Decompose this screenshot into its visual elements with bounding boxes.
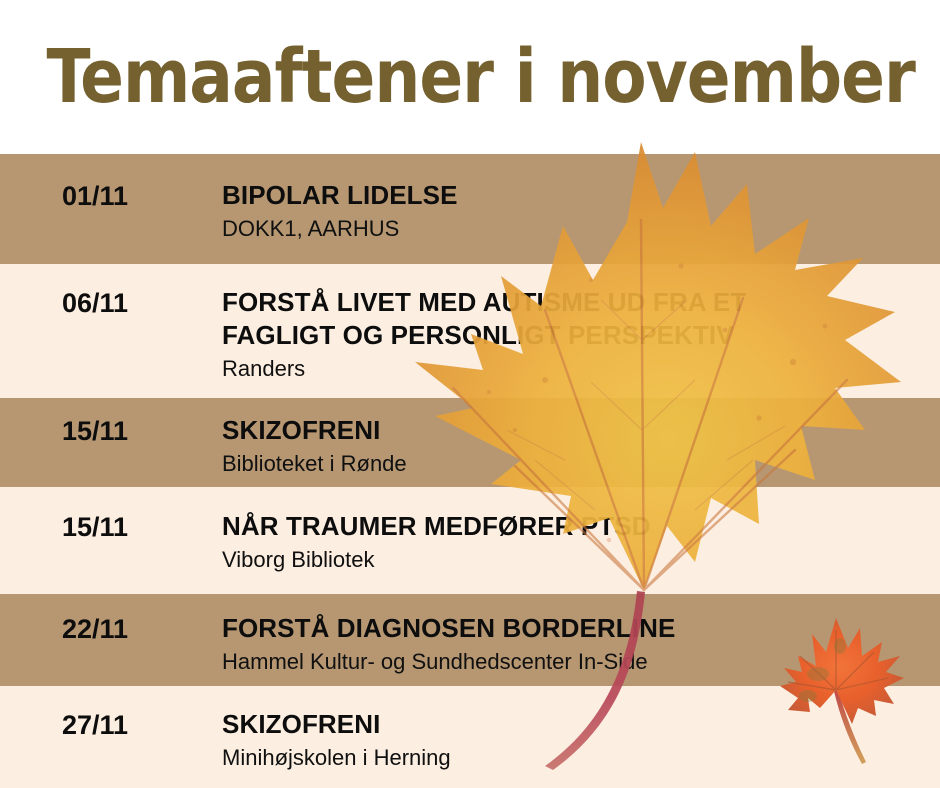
poster-canvas: Temaaftener i november 01/11 BIPOLAR LID… [0, 0, 940, 788]
event-schedule-list: 01/11 BIPOLAR LIDELSE DOKK1, AARHUS 06/1… [0, 154, 940, 788]
event-date: 27/11 [62, 708, 222, 742]
event-date: 15/11 [62, 414, 222, 448]
event-date: 15/11 [62, 510, 222, 544]
table-row: 22/11 FORSTÅ DIAGNOSEN BORDERLINE Hammel… [0, 594, 940, 686]
event-title: FORSTÅ LIVET MED AUTISME UD FRA ET FAGLI… [222, 286, 940, 352]
event-title-line1: FORSTÅ DIAGNOSEN BORDERLINE [222, 613, 675, 643]
table-row: 27/11 SKIZOFRENI Minihøjskolen i Herning [0, 686, 940, 788]
table-row: 15/11 NÅR TRAUMER MEDFØRER PTSD Viborg B… [0, 487, 940, 594]
event-title: NÅR TRAUMER MEDFØRER PTSD [222, 510, 940, 543]
table-row: 15/11 SKIZOFRENI Biblioteket i Rønde [0, 398, 940, 487]
poster-header: Temaaftener i november [0, 0, 940, 154]
event-title-line1: SKIZOFRENI [222, 415, 380, 445]
event-title: FORSTÅ DIAGNOSEN BORDERLINE [222, 612, 940, 645]
event-location: Randers [222, 354, 940, 384]
event-location: DOKK1, AARHUS [222, 214, 940, 244]
event-location: Hammel Kultur- og Sundhedscenter In-Side [222, 647, 940, 677]
event-date: 01/11 [62, 179, 222, 213]
event-location: Minihøjskolen i Herning [222, 743, 940, 773]
event-title-line2: FAGLIGT OG PERSONLIGT PERSPEKTIV [222, 319, 940, 352]
event-title-line1: BIPOLAR LIDELSE [222, 180, 458, 210]
event-details: FORSTÅ DIAGNOSEN BORDERLINE Hammel Kultu… [222, 612, 940, 677]
event-title-line1: SKIZOFRENI [222, 709, 380, 739]
event-details: SKIZOFRENI Biblioteket i Rønde [222, 414, 940, 479]
event-date: 06/11 [62, 286, 222, 320]
event-date: 22/11 [62, 612, 222, 646]
event-title: SKIZOFRENI [222, 414, 940, 447]
event-title: SKIZOFRENI [222, 708, 940, 741]
table-row: 06/11 FORSTÅ LIVET MED AUTISME UD FRA ET… [0, 264, 940, 398]
table-row: 01/11 BIPOLAR LIDELSE DOKK1, AARHUS [0, 154, 940, 264]
event-title-line1: NÅR TRAUMER MEDFØRER PTSD [222, 511, 651, 541]
event-title: BIPOLAR LIDELSE [222, 179, 940, 212]
event-details: NÅR TRAUMER MEDFØRER PTSD Viborg Bibliot… [222, 510, 940, 575]
event-title-line1: FORSTÅ LIVET MED AUTISME UD FRA ET [222, 287, 746, 317]
event-details: SKIZOFRENI Minihøjskolen i Herning [222, 708, 940, 773]
event-location: Viborg Bibliotek [222, 545, 940, 575]
page-title: Temaaftener i november [0, 37, 915, 117]
event-location: Biblioteket i Rønde [222, 449, 940, 479]
event-details: BIPOLAR LIDELSE DOKK1, AARHUS [222, 179, 940, 244]
event-details: FORSTÅ LIVET MED AUTISME UD FRA ET FAGLI… [222, 286, 940, 384]
